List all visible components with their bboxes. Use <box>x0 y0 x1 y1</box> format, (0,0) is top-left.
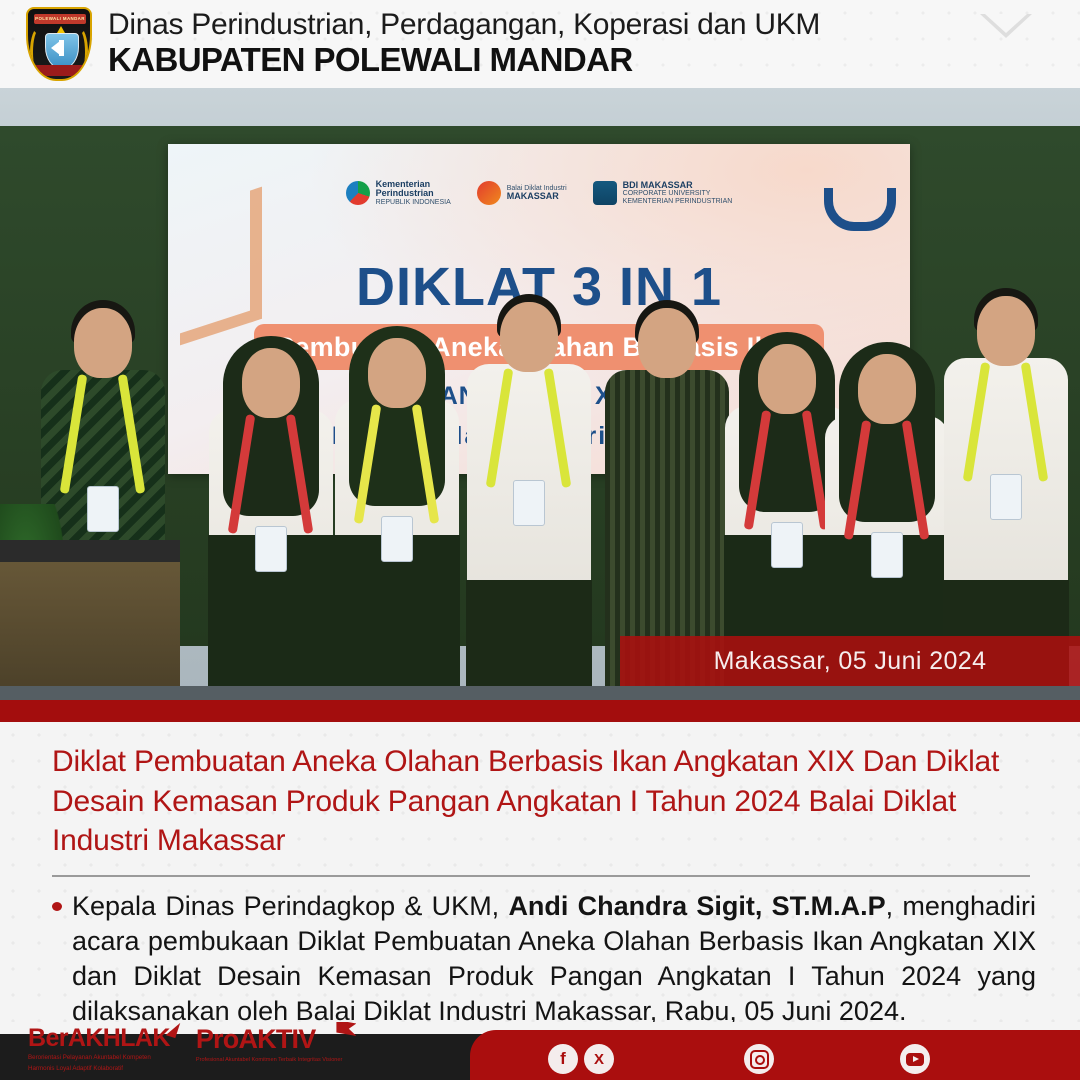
facebook-icon[interactable]: f <box>548 1044 578 1074</box>
id-badge <box>990 474 1022 520</box>
podium <box>0 540 180 700</box>
crest-band-label: POLEWALI MANDAR <box>34 14 86 24</box>
date-location-badge: Makassar, 05 Juni 2024 <box>620 636 1080 686</box>
proaktiv-tagline: Profesional Akuntabel Komitmen Terbaik I… <box>196 1057 343 1064</box>
paragraph-part-1: Kepala Dinas Perindagkop & UKM, <box>72 891 508 921</box>
id-badge <box>871 532 903 578</box>
bdi-icon <box>477 181 501 205</box>
logo-line2: Perindustrian <box>376 189 451 198</box>
logo-line3: REPUBLIK INDONESIA <box>376 199 451 206</box>
facebook-glyph: f <box>560 1049 566 1069</box>
crest-mast-icon <box>59 40 64 56</box>
polewali-mandar-crest-icon: POLEWALI MANDAR <box>26 5 92 83</box>
kemenperin-icon <box>346 181 370 205</box>
id-badge <box>255 526 287 572</box>
crest-star-icon <box>57 26 65 33</box>
berakhlak-tagline-line2: Harmonis Loyal Adaptif Kolaboratif <box>28 1065 170 1073</box>
person-face <box>500 302 558 372</box>
header-titles: Dinas Perindustrian, Perdagangan, Kopera… <box>108 9 820 78</box>
person-face <box>977 296 1035 366</box>
triangle-down-icon <box>980 14 1032 38</box>
banner-logo-row: Kementerian Perindustrian REPUBLIK INDON… <box>168 180 910 206</box>
official-name: Andi Chandra Sigit, ST.M.A.P <box>508 891 885 921</box>
instagram-glyph <box>750 1050 769 1069</box>
logo-line1: BDI MAKASSAR <box>623 181 733 190</box>
logo-line2: CORPORATE UNIVERSITY <box>623 190 733 197</box>
berakhlak-tagline-line1: Berorientasi Pelayanan Akuntabel Kompete… <box>28 1054 170 1062</box>
crest-base-ribbon <box>36 65 86 76</box>
page-title: KABUPATEN POLEWALI MANDAR <box>108 42 820 79</box>
bdi-cu-icon <box>593 181 617 205</box>
header-agency-name: Dinas Perindustrian, Perdagangan, Kopera… <box>108 9 820 41</box>
page-header: POLEWALI MANDAR Dinas Perindustrian, Per… <box>0 0 1080 88</box>
youtube-icon[interactable] <box>900 1044 930 1074</box>
logo-bdi-makassar: Balai Diklat Industri MAKASSAR <box>477 181 567 205</box>
id-badge <box>771 522 803 568</box>
instagram-icon[interactable] <box>744 1044 774 1074</box>
x-twitter-icon[interactable]: X <box>584 1044 614 1074</box>
person-face <box>368 338 426 408</box>
person-face <box>74 308 132 378</box>
social-links: f X <box>548 1042 968 1076</box>
poster-root: POLEWALI MANDAR Dinas Perindustrian, Per… <box>0 0 1080 1080</box>
event-photo: Kementerian Perindustrian REPUBLIK INDON… <box>0 88 1080 700</box>
content-section: Diklat Pembuatan Aneka Olahan Berbasis I… <box>0 722 1080 1022</box>
person-face <box>858 354 916 424</box>
logo-kementerian-perindustrian: Kementerian Perindustrian REPUBLIK INDON… <box>346 180 451 206</box>
red-divider-bar <box>0 700 1080 722</box>
berakhlak-logo: BerAKHLAK Berorientasi Pelayanan Akuntab… <box>28 1026 170 1074</box>
dot-bullet-icon <box>52 902 62 911</box>
person-face <box>758 344 816 414</box>
proaktiv-title: ProAKTIV <box>196 1026 343 1053</box>
photo-bottom-strip <box>0 686 1080 700</box>
date-location-text: Makassar, 05 Juni 2024 <box>714 647 987 676</box>
article-title: Diklat Pembuatan Aneka Olahan Berbasis I… <box>52 742 1036 861</box>
berakhlak-title-b: AKHLAK <box>68 1024 170 1052</box>
section-divider <box>52 875 1030 877</box>
person-trousers <box>466 580 592 700</box>
id-badge <box>87 486 119 532</box>
berakhlak-title-a: Ber <box>28 1024 68 1052</box>
id-badge <box>381 516 413 562</box>
footer-brand-logos: BerAKHLAK Berorientasi Pelayanan Akuntab… <box>28 1026 342 1074</box>
person-face <box>242 348 300 418</box>
logo-line2: MAKASSAR <box>507 192 567 201</box>
logo-bdi-corporate-university: BDI MAKASSAR CORPORATE UNIVERSITY KEMENT… <box>593 181 733 205</box>
page-footer: BerAKHLAK Berorientasi Pelayanan Akuntab… <box>0 1022 1080 1080</box>
article-paragraph: Kepala Dinas Perindagkop & UKM, Andi Cha… <box>72 889 1036 1022</box>
proaktiv-logo: ProAKTIV Profesional Akuntabel Komitmen … <box>196 1026 343 1064</box>
x-glyph: X <box>594 1051 604 1068</box>
person-face <box>638 308 696 378</box>
logo-line3: KEMENTERIAN PERINDUSTRIAN <box>623 198 733 205</box>
youtube-glyph <box>906 1053 924 1066</box>
id-badge <box>513 480 545 526</box>
